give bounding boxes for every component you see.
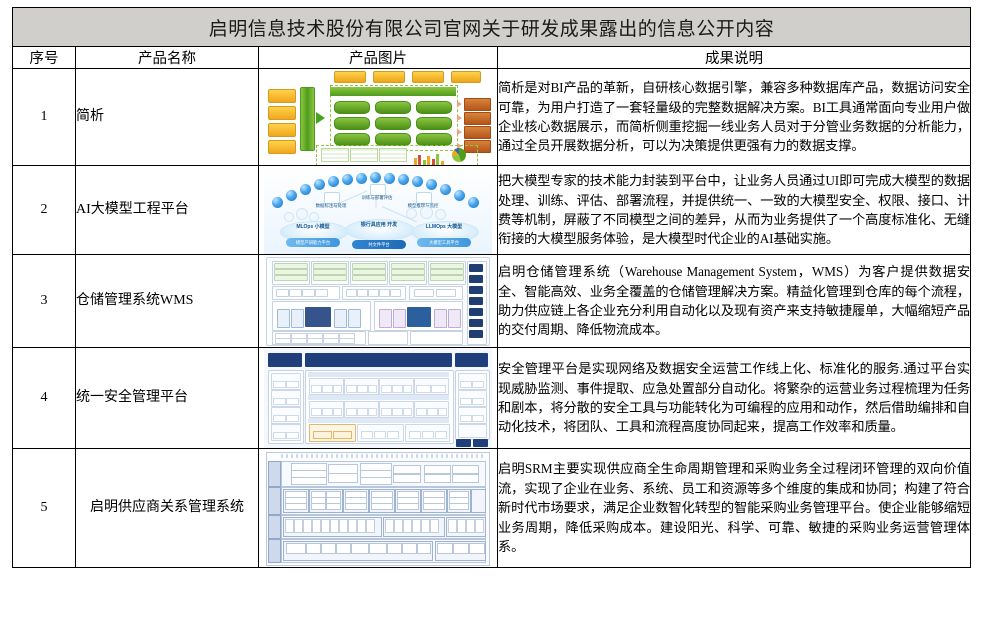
product-description: 启明SRM主要实现供应商全生命周期管理和采购业务全过程闭环管理的双向价值流，实现… — [498, 449, 971, 568]
table-row: 1 简析 — [13, 69, 971, 166]
table-row: 3 仓储管理系统WMS — [13, 255, 971, 348]
ai-pillar-label: MLOps 小模型 — [284, 224, 342, 230]
column-header-index: 序号 — [13, 47, 76, 69]
product-image-cell: 数据标注与处理 训练与部署评估 模型推理与监控 — [259, 166, 498, 255]
row-index: 5 — [13, 449, 76, 568]
row-index: 1 — [13, 69, 76, 166]
ai-caption-pill: 模型产研能力平台 — [286, 238, 340, 247]
table-header-row: 序号 产品名称 产品图片 成果说明 — [13, 47, 971, 69]
ai-pillar-label: 银行具应用 开发 — [349, 222, 409, 228]
ai-node-label: 数据标注与处理 — [310, 203, 352, 209]
ai-pillar-label: LLMOps 大模型 — [415, 224, 473, 230]
product-image-cell — [259, 449, 498, 568]
product-description: 把大模型专家的技术能力封装到平台中，让业务人员通过UI即可完成大模型的数据处理、… — [498, 166, 971, 255]
ai-platform-figure: 数据标注与处理 训练与部署评估 模型推理与监控 — [264, 166, 492, 254]
product-name: 仓储管理系统WMS — [76, 255, 259, 348]
document-page: 启明信息技术股份有限公司官网关于研发成果露出的信息公开内容 序号 产品名称 产品… — [0, 0, 985, 622]
table-row: 2 AI大模型工程平台 — [13, 166, 971, 255]
product-image-cell — [259, 348, 498, 449]
product-name: 启明供应商关系管理系统 — [76, 449, 259, 568]
product-description: 简析是对BI产品的革新，自研核心数据引擎，兼容多种数据库产品，数据访问安全可靠，… — [498, 69, 971, 166]
page-title: 启明信息技术股份有限公司官网关于研发成果露出的信息公开内容 — [13, 8, 971, 47]
srm-architecture-figure — [264, 449, 492, 567]
product-description: 启明仓储管理系统（Warehouse Management System，WMS… — [498, 255, 971, 348]
ai-node-label: 训练与部署评估 — [356, 195, 398, 201]
bi-architecture-figure — [264, 69, 492, 165]
row-index: 4 — [13, 348, 76, 449]
table-row: 4 统一安全管理平台 — [13, 348, 971, 449]
product-image-cell — [259, 69, 498, 166]
product-name: AI大模型工程平台 — [76, 166, 259, 255]
product-description: 安全管理平台是实现网络及数据安全运营工作线上化、标准化的服务.通过平台实现威胁监… — [498, 348, 971, 449]
row-index: 2 — [13, 166, 76, 255]
product-name: 简析 — [76, 69, 259, 166]
product-name: 统一安全管理平台 — [76, 348, 259, 449]
product-image-cell — [259, 255, 498, 348]
information-disclosure-table: 启明信息技术股份有限公司官网关于研发成果露出的信息公开内容 序号 产品名称 产品… — [12, 7, 971, 568]
security-platform-figure — [264, 348, 492, 448]
ai-caption-pill: 共文件平台 — [352, 240, 406, 249]
column-header-product-image: 产品图片 — [259, 47, 498, 69]
table-title-row: 启明信息技术股份有限公司官网关于研发成果露出的信息公开内容 — [13, 8, 971, 47]
row-index: 3 — [13, 255, 76, 348]
column-header-product-name: 产品名称 — [76, 47, 259, 69]
table-row: 5 启明供应商关系管理系统 — [13, 449, 971, 568]
ai-caption-pill: 大模型工具平台 — [417, 238, 471, 247]
wms-architecture-figure — [264, 255, 492, 347]
column-header-description: 成果说明 — [498, 47, 971, 69]
